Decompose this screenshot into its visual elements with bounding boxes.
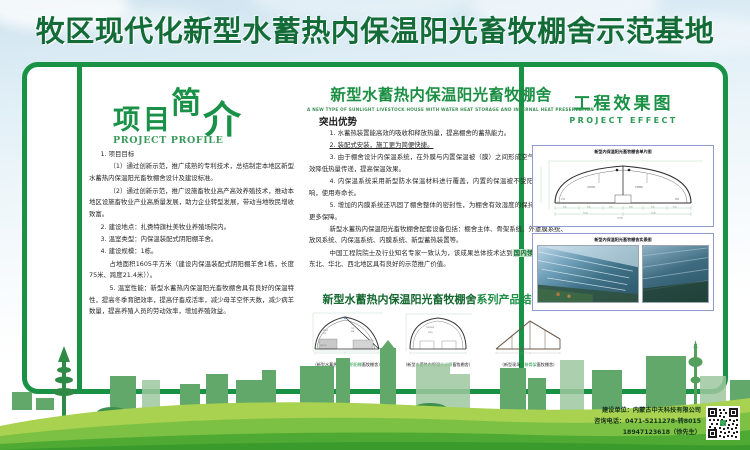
profile-paragraph: 2. 建设地点：扎赉特旗杜美牧业养殖场院内。 <box>89 222 294 234</box>
caption-prefix: （新型水蓄热内保温 <box>313 362 350 367</box>
profile-paragraph: 5. 温室性能：新型水蓄热内保温阳光畜牧棚舍具有良好的保温特性，提高冬季育肥效率… <box>89 283 294 319</box>
poster-root: 牧区现代化新型水蓄热内保温阳光畜牧棚舍示范基地 项 目 简 介 PROJECT … <box>0 0 750 450</box>
svg-text:内保温被: 内保温被 <box>587 185 595 189</box>
project-profile-body: 1. 项目目标 （1）通过创新示范，推广成熟的专利技术，总结制定本地区新型水蓄热… <box>89 149 294 319</box>
project-profile-subtitle: PROJECT PROFILE <box>113 135 223 146</box>
svg-text:14280: 14280 <box>617 217 624 219</box>
heading-char-2: 目 <box>143 107 170 134</box>
svg-text:7140: 7140 <box>651 212 657 214</box>
svg-text:外膜: 外膜 <box>351 327 355 330</box>
qr-code <box>706 406 740 440</box>
footer-line: 建设单位：内蒙古中天科技有限公司 <box>594 406 701 417</box>
cad-section-drawing: 内保温被外罩膜层 水池放风 <box>535 157 711 219</box>
profile-paragraph: 4. 建设规模：1栋。 <box>89 246 294 258</box>
caption-prefix: （新型水蓄热内保温 <box>403 362 440 367</box>
project-effect-title: 工程效果图 <box>524 89 723 114</box>
heading-char-1: 项 <box>113 107 140 134</box>
structure-caption-1: （新型水蓄热内保温阴阳棚畜牧棚舍） <box>305 362 390 368</box>
bush-decor <box>96 403 448 421</box>
left-column: 项 目 简 介 PROJECT PROFILE 1. 项目目标 （1）通过创新示… <box>83 67 519 389</box>
column-divider-left <box>77 67 82 389</box>
profile-paragraph: （1）通过创新示范，推广成熟的专利技术，总结制定本地区新型水蓄热内保温阳光畜牧棚… <box>89 161 294 185</box>
caption-highlight: 阴阳棚 <box>350 362 362 367</box>
photo-b-detail <box>643 246 708 302</box>
caption-suffix: 畜牧棚舍） <box>362 362 382 367</box>
caption-highlight: 全光照 <box>440 362 452 367</box>
content-frame-inner: 项 目 简 介 PROJECT PROFILE 1. 项目目标 （1）通过创新示… <box>27 67 723 389</box>
caption-prefix: （新型现场 <box>500 362 520 367</box>
page-title: 牧区现代化新型水蓄热内保温阳光畜牧棚舍示范基地 <box>36 8 715 50</box>
structure-caption-2: （新型水蓄热内保温全光照畜牧棚舍） <box>396 362 481 368</box>
svg-text:内膜: 内膜 <box>323 332 327 335</box>
footer-line: 咨询电话：0471-5211278-转8015 <box>594 417 701 428</box>
greenhouse-interior-photo-wide <box>537 245 639 303</box>
right-column: 工程效果图 PROJECT EFFECT 新型内保温阳光畜牧棚舍单片图 <box>524 67 723 389</box>
cad-arch-yinyang: 保温被内膜 外膜骨架 蓄热水池 <box>305 309 390 357</box>
svg-text:内膜层: 内膜层 <box>428 331 433 334</box>
profile-paragraph: 1. 项目目标 <box>89 149 294 161</box>
heading-char-3: 简 <box>171 89 201 119</box>
structure-drawing-2: 外膜保温被内膜层 （新型水蓄热内保温全光照畜牧棚舍） <box>396 309 481 368</box>
poster-title-bar: 牧区现代化新型水蓄热内保温阳光畜牧棚舍示范基地 <box>0 0 750 58</box>
footer-line: 18947123618（徐先生） <box>594 428 701 439</box>
drawing-title: 新型内保温阳光畜牧棚舍单片图 <box>535 149 711 155</box>
series-title-lead: 新型水蓄热内保温阳光畜牧棚舍 <box>323 293 477 306</box>
content-frame: 项 目 简 介 PROJECT PROFILE 1. 项目目标 （1）通过创新示… <box>22 62 728 394</box>
drawing-box-cad: 新型内保温阳光畜牧棚舍单片图 <box>532 145 714 227</box>
project-effect-subtitle: PROJECT EFFECT <box>524 116 723 125</box>
svg-text:骨架: 骨架 <box>351 330 355 333</box>
profile-paragraph: 3. 温室类型：内保温装配式阴阳棚羊舍。 <box>89 234 294 246</box>
photo-a-detail <box>538 246 638 302</box>
caption-suffix: 畜牧棚舍） <box>452 362 472 367</box>
drawing-title: 新型内保温阳光畜牧棚舍实景图 <box>535 237 711 243</box>
footer: 建设单位：内蒙古中天科技有限公司 咨询电话：0471-5211278-转8015… <box>594 406 740 440</box>
svg-text:外罩膜层: 外罩膜层 <box>635 185 643 189</box>
project-profile-heading: 项 目 简 介 PROJECT PROFILE <box>93 87 283 145</box>
profile-paragraph: 占地面积1605平方米（建设内保温装配式阴阳棚羊舍1栋，长度75米、跨度21.4… <box>89 259 294 283</box>
project-effect-header: 工程效果图 PROJECT EFFECT <box>524 89 723 125</box>
footer-contact-text: 建设单位：内蒙古中天科技有限公司 咨询电话：0471-5211278-转8015… <box>594 406 701 439</box>
svg-text:外膜保温被: 外膜保温被 <box>426 326 434 329</box>
heading-char-4: 介 <box>203 101 241 139</box>
profile-paragraph: （2）通过创新示范，推广设施畜牧业高产高效养殖技术，推动本地区设施畜牧业产业高质… <box>89 186 294 222</box>
greenhouse-interior-photo-narrow <box>642 245 709 303</box>
structure-drawing-1: 保温被内膜 外膜骨架 蓄热水池 （新型水蓄热内保温阴阳棚畜牧棚舍） <box>305 309 390 368</box>
advantages-section-title: 突出优势 <box>319 114 357 128</box>
svg-text:放风: 放风 <box>675 197 679 201</box>
cad-arch-fulllight: 外膜保温被内膜层 <box>396 309 481 357</box>
hill-darkest <box>0 442 750 450</box>
svg-text:7140: 7140 <box>583 212 589 214</box>
drawing-box-photos: 新型内保温阳光畜牧棚舍实景图 <box>532 233 714 311</box>
qr-code-image <box>707 407 739 439</box>
expert-text-before: 中国工程院院士及行业知名专家一致认为，该成果总体技术达到 <box>329 249 512 257</box>
svg-text:水池: 水池 <box>561 197 565 201</box>
photo-row <box>535 245 711 303</box>
